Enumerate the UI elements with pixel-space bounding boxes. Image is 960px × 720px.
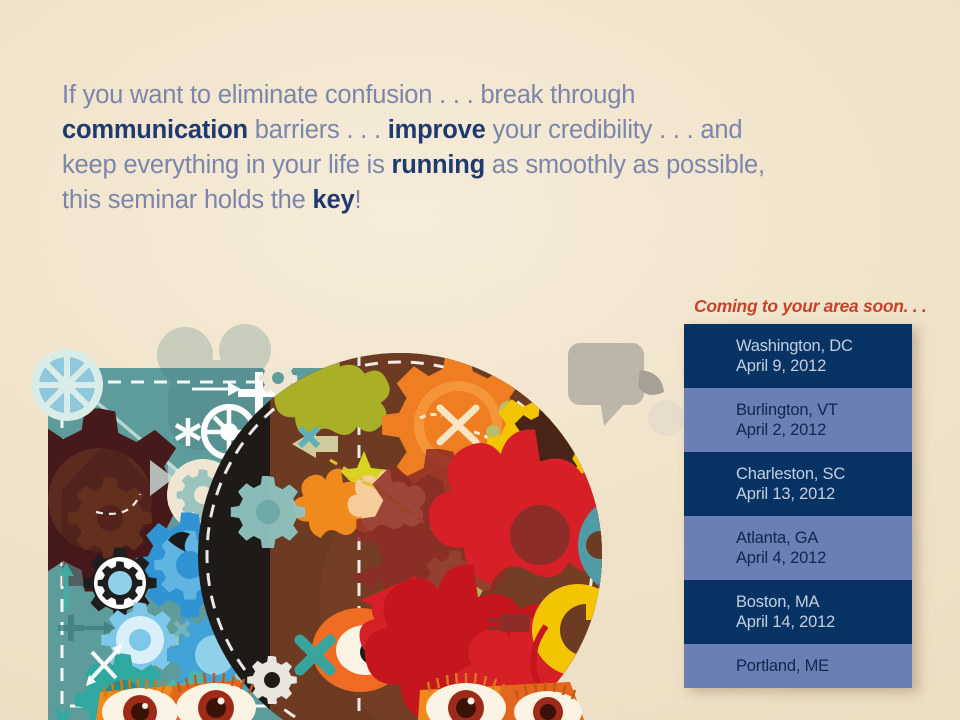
headline-span: this seminar holds the <box>62 186 313 214</box>
city-name: Portland, ME <box>736 656 912 676</box>
city-date: April 4, 2012 <box>736 548 912 568</box>
headline-emphasis: improve <box>388 116 486 144</box>
headline-span: as smoothly as possible, <box>485 151 765 179</box>
headline-span: keep everything in your life is <box>62 151 392 179</box>
schedule-title: Coming to your area soon. . . <box>694 296 914 317</box>
city-name: Burlington, VT <box>736 400 912 420</box>
headline-line-4: this seminar holds the key! <box>62 183 702 218</box>
city-list-item[interactable]: Boston, MAApril 14, 2012 <box>684 580 912 644</box>
city-date: April 9, 2012 <box>736 356 912 376</box>
headline-span: If you want to eliminate confusion . . .… <box>62 81 635 109</box>
city-name: Charleston, SC <box>736 464 912 484</box>
city-date: April 13, 2012 <box>736 484 912 504</box>
gears-illustration <box>0 300 700 720</box>
headline-emphasis: communication <box>62 116 248 144</box>
headline-text: If you want to eliminate confusion . . .… <box>62 78 702 218</box>
city-list-item[interactable]: Washington, DCApril 9, 2012 <box>684 324 912 388</box>
headline-span: your credibility . . . and <box>486 116 743 144</box>
headline-line-2: communication barriers . . . improve you… <box>62 113 702 148</box>
city-name: Atlanta, GA <box>736 528 912 548</box>
city-list-item[interactable]: Portland, ME <box>684 644 912 688</box>
city-list: Washington, DCApril 9, 2012Burlington, V… <box>684 324 912 688</box>
poster-canvas: If you want to eliminate confusion . . .… <box>0 0 960 720</box>
city-date: April 14, 2012 <box>736 612 912 632</box>
headline-emphasis: running <box>392 151 486 179</box>
city-list-item[interactable]: Burlington, VTApril 2, 2012 <box>684 388 912 452</box>
headline-line-1: If you want to eliminate confusion . . .… <box>62 78 702 113</box>
headline-emphasis: key <box>313 186 355 214</box>
headline-span: ! <box>354 186 361 214</box>
city-name: Washington, DC <box>736 336 912 356</box>
headline-span: barriers . . . <box>248 116 388 144</box>
city-list-item[interactable]: Atlanta, GAApril 4, 2012 <box>684 516 912 580</box>
city-date: April 2, 2012 <box>736 420 912 440</box>
city-list-item[interactable]: Charleston, SCApril 13, 2012 <box>684 452 912 516</box>
city-name: Boston, MA <box>736 592 912 612</box>
schedule-section: Coming to your area soon. . . Washington… <box>684 296 914 688</box>
headline-line-3: keep everything in your life is running … <box>62 148 702 183</box>
